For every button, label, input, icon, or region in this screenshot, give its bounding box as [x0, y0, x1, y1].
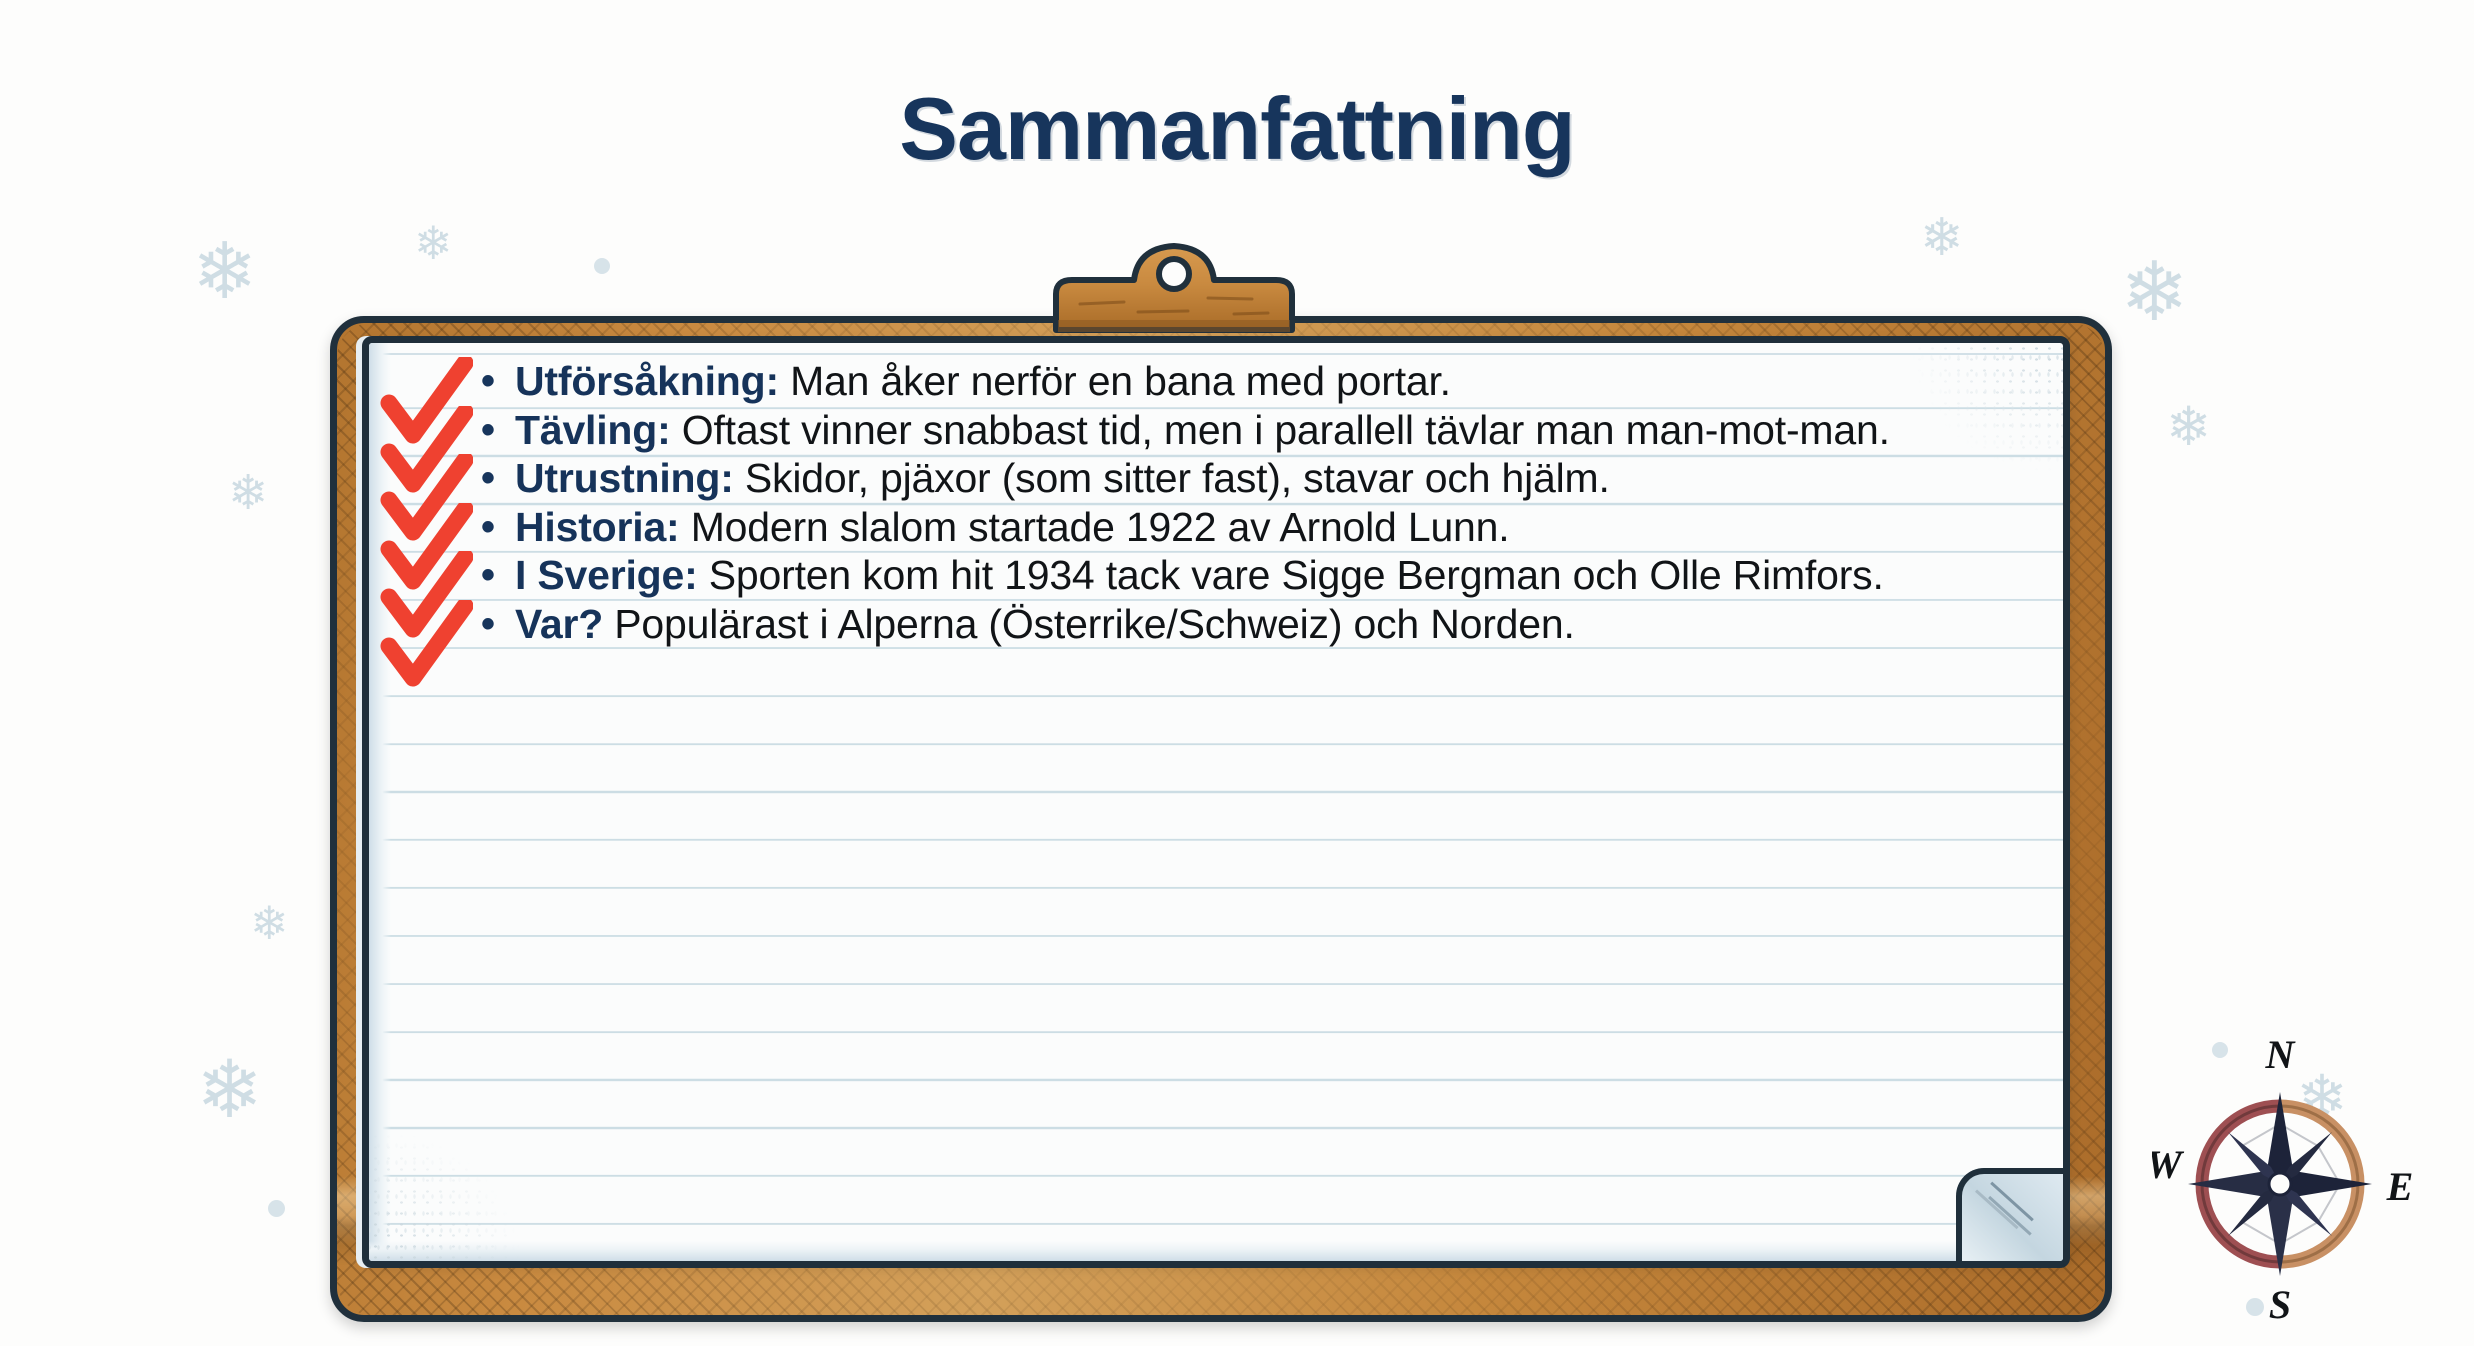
list-item-text: Var? Populärast i Alperna (Österrike/Sch…: [515, 600, 1575, 649]
list-item-text: Utförsåkning: Man åker nerför en bana me…: [515, 357, 1451, 406]
bullet-marker: •: [481, 357, 515, 405]
list-item-text: Historia: Modern slalom startade 1922 av…: [515, 503, 1509, 552]
snowflake-icon: ❄: [192, 232, 257, 310]
compass-rose: N S E W: [2152, 1032, 2432, 1322]
list-item: •Var? Populärast i Alperna (Österrike/Sc…: [481, 600, 2003, 649]
snowflake-icon: ❄: [196, 1050, 263, 1130]
snowflake-icon: ❄: [250, 900, 289, 946]
checkmark-icon: [377, 600, 473, 696]
compass-north-label: N: [2265, 1032, 2297, 1077]
snow-dot-icon: [594, 258, 610, 274]
bullet-marker: •: [481, 600, 515, 648]
list-item: •Utrustning: Skidor, pjäxor (som sitter …: [481, 454, 2003, 503]
list-item-body: Man åker nerför en bana med portar.: [779, 358, 1451, 404]
compass-west-label: W: [2152, 1142, 2184, 1187]
snowflake-icon: ❄: [2166, 400, 2211, 454]
bullet-marker: •: [481, 503, 515, 551]
compass-south-label: S: [2269, 1282, 2291, 1322]
clipboard-clip[interactable]: [1038, 232, 1310, 342]
list-item-text: Tävling: Oftast vinner snabbast tid, men…: [515, 406, 1890, 455]
list-item-body: Modern slalom startade 1922 av Arnold Lu…: [680, 504, 1510, 550]
bullet-marker: •: [481, 454, 515, 502]
snow-dot-icon: [268, 1200, 285, 1217]
list-item-body: Populärast i Alperna (Österrike/Schweiz)…: [603, 601, 1575, 647]
list-item-body: Skidor, pjäxor (som sitter fast), stavar…: [734, 455, 1610, 501]
paper-bottom-shade: [369, 1241, 2063, 1261]
page-curl-corner: [1956, 1168, 2066, 1264]
list-item-text: I Sverige: Sporten kom hit 1934 tack var…: [515, 551, 1884, 600]
list-item-text: Utrustning: Skidor, pjäxor (som sitter f…: [515, 454, 1610, 503]
snowflake-icon: ❄: [414, 220, 453, 266]
clipboard: •Utförsåkning: Man åker nerför en bana m…: [330, 316, 2112, 1322]
snowflake-icon: ❄: [228, 470, 268, 518]
list-item-label: Historia:: [515, 504, 680, 550]
page-title: Sammanfattning: [0, 78, 2474, 180]
summary-list: •Utförsåkning: Man åker nerför en bana m…: [481, 357, 2003, 648]
list-item: •Historia: Modern slalom startade 1922 a…: [481, 503, 2003, 552]
snow-speckle-bottom-left: [369, 1131, 519, 1261]
bullet-marker: •: [481, 551, 515, 599]
list-item: •Utförsåkning: Man åker nerför en bana m…: [481, 357, 2003, 406]
list-item-body: Oftast vinner snabbast tid, men i parall…: [671, 407, 1890, 453]
list-item-body: Sporten kom hit 1934 tack vare Sigge Ber…: [698, 552, 1884, 598]
bullet-marker: •: [481, 406, 515, 454]
list-item-label: Utrustning:: [515, 455, 734, 501]
snowflake-icon: ❄: [1920, 212, 1964, 264]
snowflake-icon: ❄: [2120, 252, 2189, 334]
list-item: •I Sverige: Sporten kom hit 1934 tack va…: [481, 551, 2003, 600]
list-item: •Tävling: Oftast vinner snabbast tid, me…: [481, 406, 2003, 455]
list-item-label: Tävling:: [515, 407, 671, 453]
list-item-label: I Sverige:: [515, 552, 698, 598]
list-item-label: Var?: [515, 601, 603, 647]
list-item-label: Utförsåkning:: [515, 358, 779, 404]
compass-east-label: E: [2386, 1164, 2414, 1209]
clipboard-paper: •Utförsåkning: Man åker nerför en bana m…: [362, 336, 2070, 1268]
